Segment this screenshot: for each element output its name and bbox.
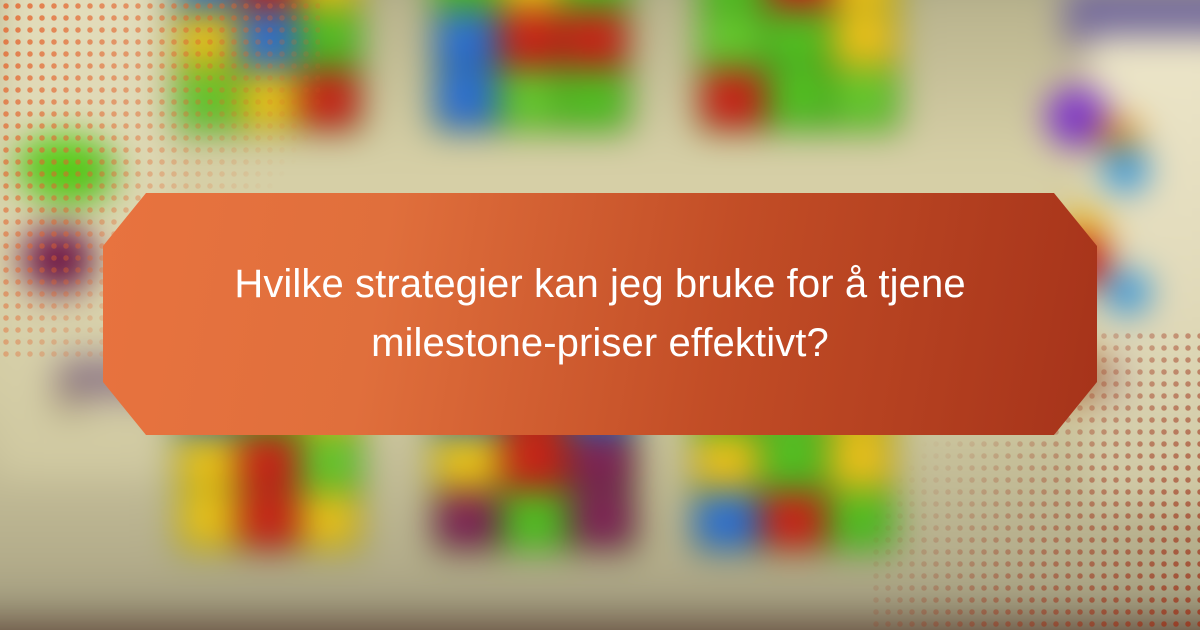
game-tile: [696, 434, 759, 489]
game-tile: [570, 493, 634, 548]
game-tile: [702, 71, 765, 128]
right-panel-blue-circle: [1102, 146, 1148, 192]
game-tile: [833, 71, 896, 128]
game-tile: [833, 12, 896, 69]
game-tile: [436, 493, 500, 548]
game-tile: [240, 434, 297, 489]
game-tile: [180, 434, 237, 489]
game-tile: [565, 12, 626, 69]
game-tile: [500, 71, 561, 128]
game-tile: [702, 12, 765, 69]
game-tile: [301, 434, 358, 489]
game-tile: [503, 493, 567, 548]
game-tile: [768, 0, 831, 9]
share-card: Hvilke strategier kan jeg bruke for å tj…: [0, 0, 1200, 630]
game-tile: [762, 493, 825, 548]
game-board-top-3: [698, 0, 900, 132]
game-tile: [696, 493, 759, 548]
game-tile: [436, 434, 500, 489]
game-tile: [762, 434, 825, 489]
game-tile: [500, 12, 561, 69]
game-tile: [503, 434, 567, 489]
game-tile: [565, 71, 626, 128]
game-tile: [301, 493, 358, 548]
game-tile: [570, 434, 634, 489]
game-tile: [565, 0, 626, 9]
game-tile: [436, 71, 497, 128]
headline-banner: Hvilke strategier kan jeg bruke for å tj…: [103, 193, 1097, 435]
game-tile: [180, 493, 237, 548]
game-tile: [436, 12, 497, 69]
game-board-top-2: [432, 0, 630, 132]
headline-text: Hvilke strategier kan jeg bruke for å tj…: [150, 255, 1050, 373]
game-tile: [240, 493, 297, 548]
game-tile: [500, 0, 561, 9]
game-tile: [702, 0, 765, 9]
right-panel-blue-circle-2: [1104, 270, 1150, 314]
game-tile: [768, 12, 831, 69]
game-tile: [833, 0, 896, 9]
game-tile: [436, 0, 497, 9]
game-tile: [768, 71, 831, 128]
